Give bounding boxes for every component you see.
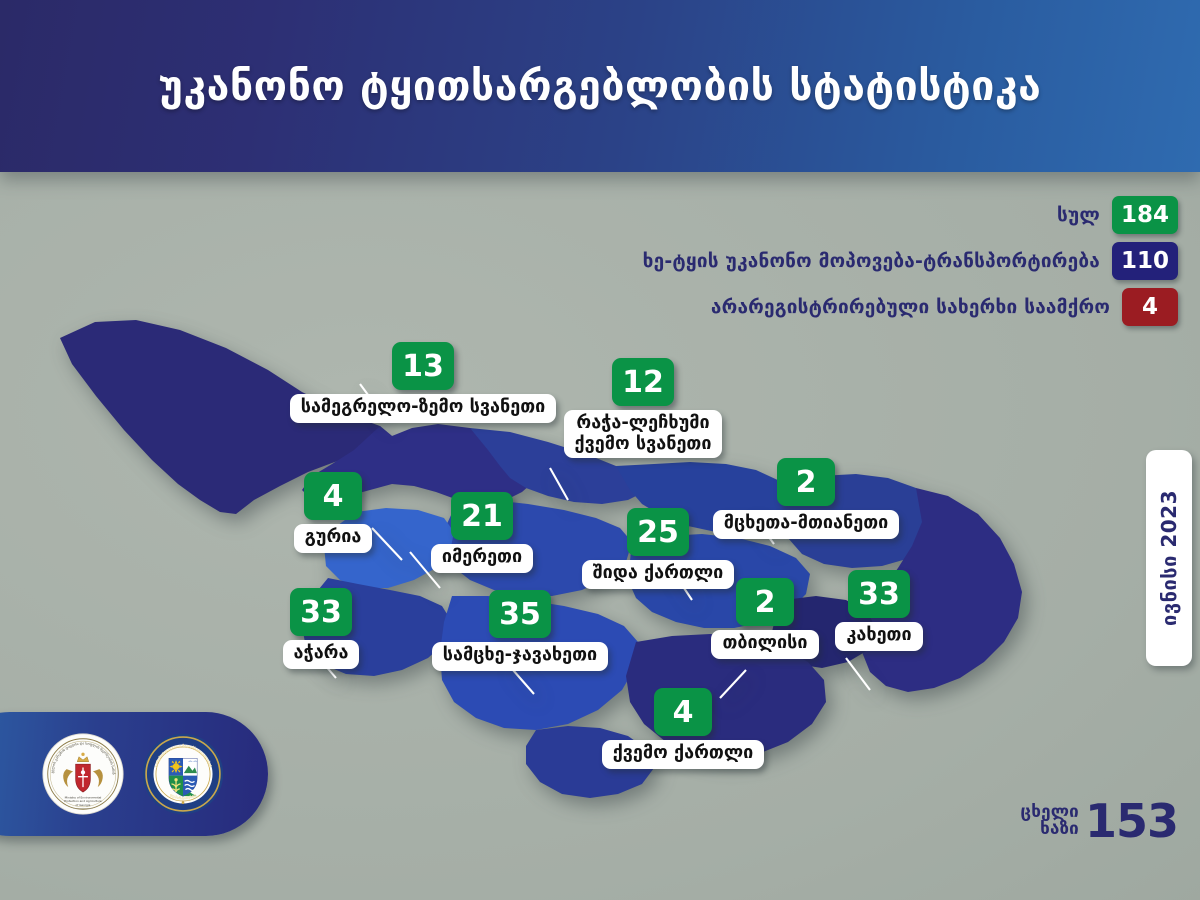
hotline-number: 153 xyxy=(1085,800,1178,842)
legend-value-unregistered-sawmill: 4 xyxy=(1122,288,1178,326)
map-marker-imereti[interactable]: 21 იმერეთი xyxy=(422,492,542,573)
hotline-words: ცხელი ხაზი xyxy=(1020,804,1079,838)
legend-value-illegal-logging-transport: 110 xyxy=(1112,242,1178,280)
map-value-shida-kartli: 25 xyxy=(627,508,689,556)
legend-label-total: სულ xyxy=(1057,204,1100,226)
environmental-supervision-department-emblem: გარემოსდაცვითი ზედამხედველობის დეპარტამე… xyxy=(142,733,224,815)
map-label-mtskheta-mtianeti: მცხეთა-მთიანეთი xyxy=(713,510,900,539)
map-value-mtskheta-mtianeti: 2 xyxy=(777,458,835,506)
map-label-racha-lechkhumi-kvemo-svaneti: რაჭა-ლეჩხუმი ქვემო სვანეთი xyxy=(564,410,723,458)
header-banner: უკანონო ტყითსარგებლობის სტატისტიკა xyxy=(0,0,1200,172)
map-label-shida-kartli: შიდა ქართლი xyxy=(582,560,735,589)
map-value-samtskhe-javakheti: 35 xyxy=(489,590,551,638)
map-value-samegrelo-zemo-svaneti: 13 xyxy=(392,342,454,390)
legend-row-total: სულ 184 xyxy=(1057,196,1178,234)
infographic-poster: უკანონო ტყითსარგებლობის სტატისტიკა სულ 1… xyxy=(0,0,1200,900)
date-tab: ივნისი 2023 xyxy=(1146,450,1192,666)
map-label-tbilisi: თბილისი xyxy=(711,630,818,659)
legend-label-illegal-logging-transport: ხე-ტყის უკანონო მოპოვება-ტრანსპორტირება xyxy=(643,250,1100,272)
map-value-kakheti: 33 xyxy=(848,570,910,618)
map-value-kvemo-kartli: 4 xyxy=(654,688,712,736)
map-label-kakheti: კახეთი xyxy=(835,622,922,651)
map-label-adjara: აჭარა xyxy=(283,640,360,669)
map-marker-kvemo-kartli[interactable]: 4 ქვემო ქართლი xyxy=(600,688,766,769)
map-marker-samtskhe-javakheti[interactable]: 35 სამცხე-ჯავახეთი xyxy=(422,590,618,671)
ministry-of-environmental-protection-and-agriculture-emblem: საქართველოს გარემოს დაცვისა და სოფლის მე… xyxy=(42,733,124,815)
map-marker-tbilisi[interactable]: 2 თბილისი xyxy=(700,578,830,659)
map-value-guria: 4 xyxy=(304,472,362,520)
map-marker-racha-lechkhumi-kvemo-svaneti[interactable]: 12 რაჭა-ლეჩხუმი ქვემო სვანეთი xyxy=(548,358,738,458)
map-label-guria: გურია xyxy=(294,524,373,553)
map-value-tbilisi: 2 xyxy=(736,578,794,626)
svg-text:of Georgia: of Georgia xyxy=(76,803,91,807)
hotline: ცხელი ხაზი 153 xyxy=(1020,800,1178,842)
hotline-line2: ხაზი xyxy=(1020,821,1079,838)
map-label-kvemo-kartli: ქვემო ქართლი xyxy=(602,740,765,769)
map-label-line2-kvemo-svaneti: ქვემო სვანეთი xyxy=(575,434,712,455)
map-value-racha-lechkhumi-kvemo-svaneti: 12 xyxy=(612,358,674,406)
map-marker-mtskheta-mtianeti[interactable]: 2 მცხეთა-მთიანეთი xyxy=(700,458,912,539)
logo-pill: საქართველოს გარემოს დაცვისა და სოფლის მე… xyxy=(0,712,268,836)
map-label-samegrelo-zemo-svaneti: სამეგრელო-ზემო სვანეთი xyxy=(290,394,557,423)
map-label-line1-racha-lechkhumi: რაჭა-ლეჩხუმი xyxy=(575,413,712,434)
map-marker-adjara[interactable]: 33 აჭარა xyxy=(262,588,380,669)
map-marker-samegrelo-zemo-svaneti[interactable]: 13 სამეგრელო-ზემო სვანეთი xyxy=(308,342,538,423)
map-marker-guria[interactable]: 4 გურია xyxy=(278,472,388,553)
page-title: უკანონო ტყითსარგებლობის სტატისტიკა xyxy=(159,62,1042,110)
map-label-imereti: იმერეთი xyxy=(431,544,533,573)
map-marker-kakheti[interactable]: 33 კახეთი xyxy=(820,570,938,651)
map-value-imereti: 21 xyxy=(451,492,513,540)
date-tab-label: ივნისი 2023 xyxy=(1157,490,1181,626)
legend-value-total: 184 xyxy=(1112,196,1178,234)
map-value-adjara: 33 xyxy=(290,588,352,636)
map-label-samtskhe-javakheti: სამცხე-ჯავახეთი xyxy=(432,642,608,671)
legend-row-illegal-logging-transport: ხე-ტყის უკანონო მოპოვება-ტრანსპორტირება … xyxy=(643,242,1178,280)
